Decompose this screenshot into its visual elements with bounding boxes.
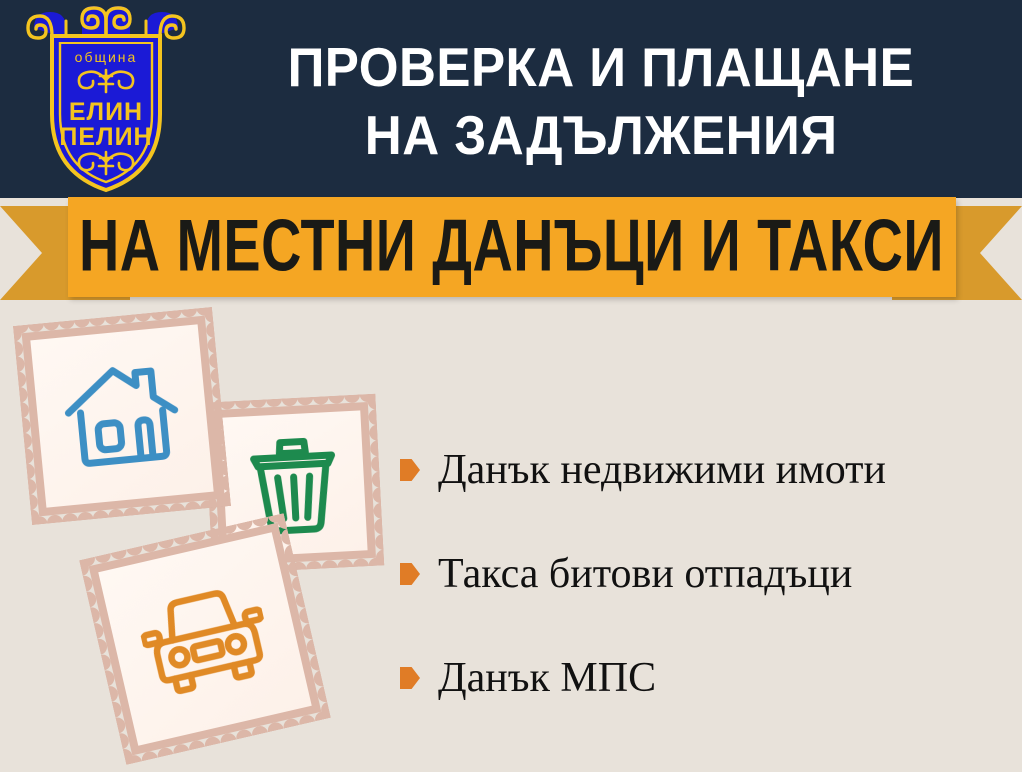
list-item-label: Такса битови отпадъци	[438, 551, 852, 597]
poster-canvas: община ЕЛИН ПЕЛИН ПРОВЕРКА И ПЛАЩАНЕ НА …	[0, 0, 1022, 772]
municipality-logo: община ЕЛИН ПЕЛИН	[22, 4, 190, 194]
stamp-inner-house	[30, 324, 213, 507]
house-icon	[58, 355, 186, 478]
ribbon-label: НА МЕСТНИ ДАНЪЦИ И ТАКСИ	[80, 210, 945, 283]
page-title-line-1: ПРОВЕРКА И ПЛАЩАНЕ	[288, 33, 915, 101]
list-item-label: Данък МПС	[438, 655, 656, 701]
list-item[interactable]: Данък МПС	[400, 626, 1010, 730]
page-title-line-2: НА ЗАДЪЛЖЕНИЯ	[365, 101, 838, 169]
tax-type-list: Данък недвижими имоти Такса битови отпад…	[400, 418, 1010, 730]
list-item[interactable]: Данък недвижими имоти	[400, 418, 1010, 522]
coat-of-arms-shield-icon: община ЕЛИН ПЕЛИН	[22, 4, 190, 194]
logo-name-line1: ЕЛИН	[69, 98, 143, 126]
list-item[interactable]: Такса битови отпадъци	[400, 522, 1010, 626]
ribbon-body: НА МЕСТНИ ДАНЪЦИ И ТАКСИ	[68, 197, 956, 297]
arrow-bullet-icon	[400, 667, 420, 689]
page-title: ПРОВЕРКА И ПЛАЩАНЕ НА ЗАДЪЛЖЕНИЯ	[192, 18, 1010, 183]
stamp-card-house	[13, 307, 231, 525]
list-item-label: Данък недвижими имоти	[438, 447, 886, 493]
ribbon-banner: НА МЕСТНИ ДАНЪЦИ И ТАКСИ	[0, 197, 1022, 309]
stamp-inner-car	[98, 532, 311, 745]
logo-obshtina-label: община	[75, 49, 138, 65]
arrow-bullet-icon	[400, 459, 420, 481]
logo-name-line2: ПЕЛИН	[59, 123, 152, 151]
arrow-bullet-icon	[400, 563, 420, 585]
car-front-icon	[133, 576, 276, 701]
